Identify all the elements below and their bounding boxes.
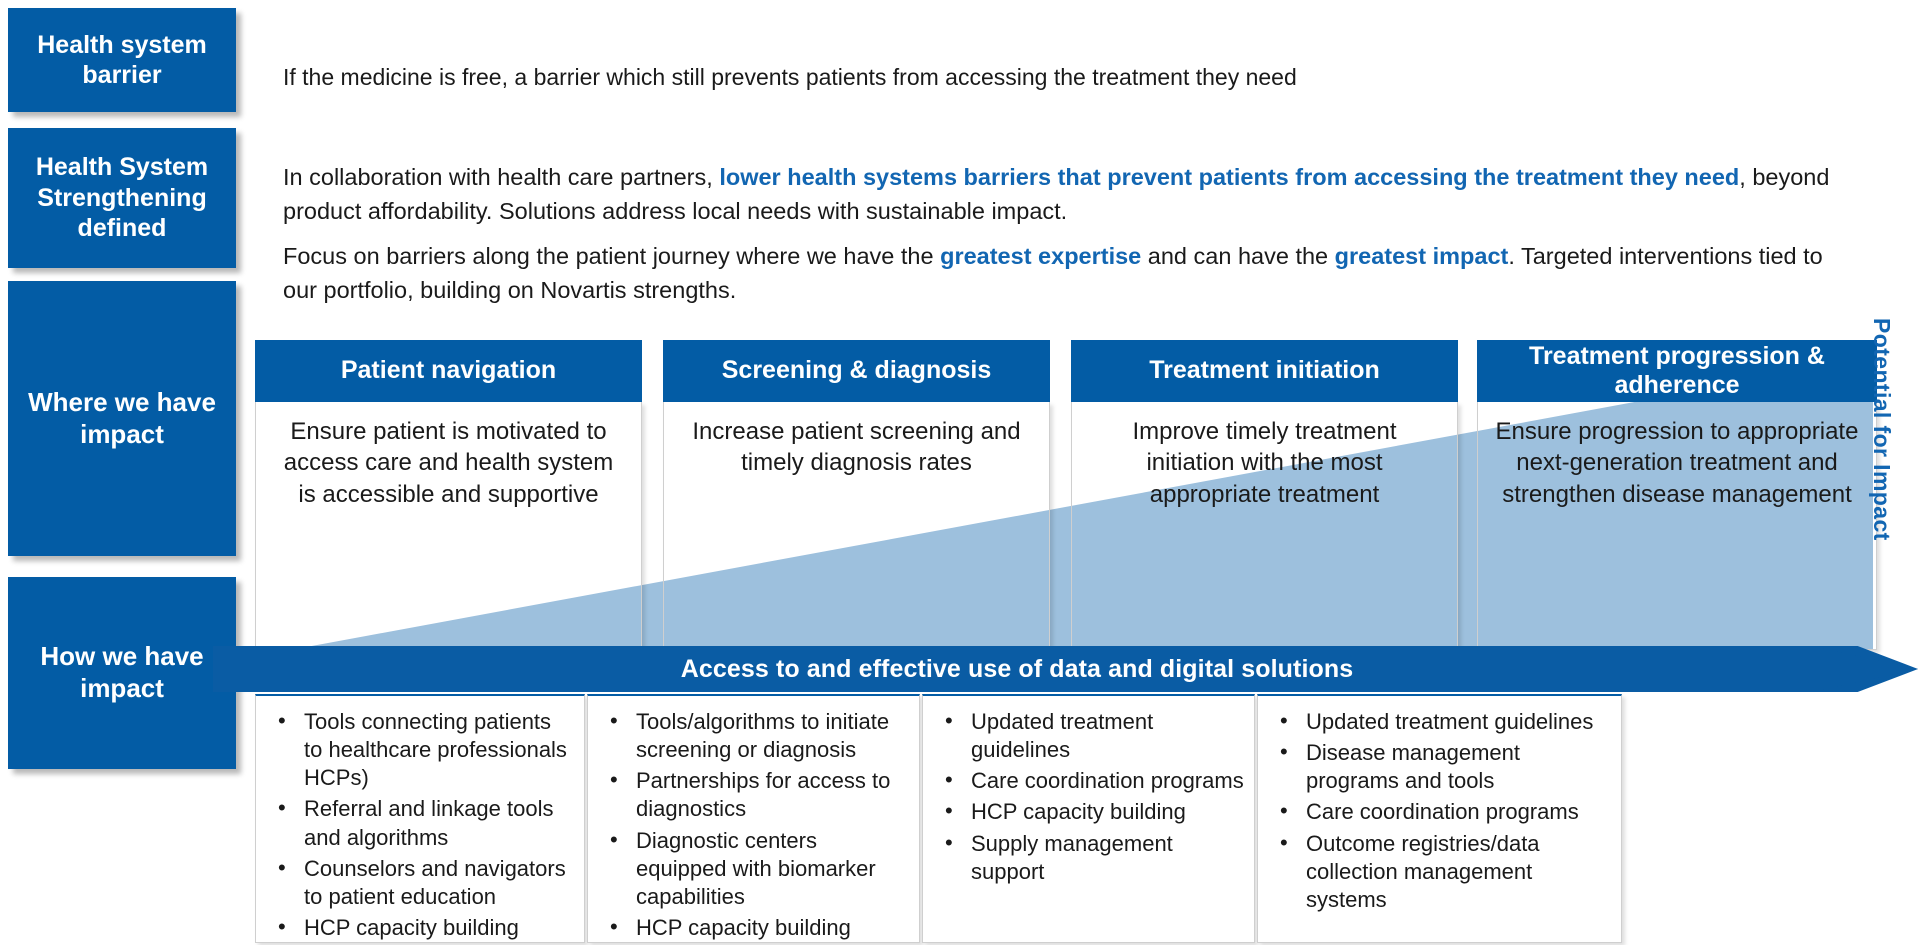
stage-header-treatment-progression-adherence[interactable]: Treatment progression & adherence (1477, 340, 1877, 402)
slide-canvas: Health system barrier Health System Stre… (0, 0, 1918, 945)
list-item: HCP capacity building (935, 798, 1244, 826)
list-item: Care coordination programs (1270, 798, 1611, 826)
list-item: Counselors and navigators to patient edu… (268, 855, 574, 911)
how-card-treatment-initiation: Updated treatment guidelines Care coordi… (922, 694, 1255, 943)
impact-stage-grid: Patient navigation Ensure patient is mot… (255, 340, 1873, 690)
list-item: Referral and linkage tools and algorithm… (268, 795, 574, 851)
rail-label-hss-defined: Health System Strengthening defined (8, 128, 236, 268)
list-item: Tools/algorithms to initiate screening o… (600, 708, 909, 764)
list-item: Tools connecting patients to healthcare … (268, 708, 574, 792)
barrier-statement-text: If the medicine is free, a barrier which… (283, 64, 1297, 90)
stage-header-patient-navigation[interactable]: Patient navigation (255, 340, 642, 402)
definition-p2-highlight-impact: greatest impact (1335, 243, 1509, 269)
stage-description-text: Ensure progression to appropriate next-g… (1496, 418, 1859, 508)
stage-header-treatment-initiation[interactable]: Treatment initiation (1071, 340, 1458, 402)
list-item: Updated treatment guidelines (1270, 708, 1611, 736)
list-item: Disease management programs and tools (1270, 739, 1611, 795)
rail-label-text: Health system barrier (14, 30, 230, 91)
definition-paragraph-1: In collaboration with health care partne… (283, 160, 1843, 228)
how-card-treatment-progression-adherence: Updated treatment guidelines Disease man… (1257, 694, 1622, 943)
list-item: HCP capacity building (600, 914, 909, 942)
rail-label-how-we-have-impact: How we have impact (8, 577, 236, 769)
definition-p1-lead: In collaboration with health care partne… (283, 164, 719, 190)
stage-description-text: Increase patient screening and timely di… (692, 418, 1020, 476)
potential-for-impact-axis-label: Potential for Impact (1868, 318, 1895, 541)
stage-description-screening-diagnosis: Increase patient screening and timely di… (663, 402, 1050, 650)
stage-header-text: Treatment initiation (1149, 356, 1380, 386)
arrow-banner-label: Access to and effective use of data and … (213, 646, 1821, 692)
definition-p2-mid: and can have the (1141, 243, 1334, 269)
definition-p1-highlight: lower health systems barriers that preve… (719, 164, 1739, 190)
rail-label-text: Health System Strengthening defined (14, 152, 230, 244)
impact-stage-column-1: Patient navigation Ensure patient is mot… (255, 340, 642, 650)
rail-label-text: Where we have impact (14, 387, 230, 450)
stage-description-treatment-progression-adherence: Ensure progression to appropriate next-g… (1477, 402, 1877, 650)
list-item: Updated treatment guidelines (935, 708, 1244, 764)
stage-header-text: Screening & diagnosis (722, 356, 992, 386)
arrow-banner-text: Access to and effective use of data and … (681, 655, 1354, 684)
stage-header-text: Patient navigation (341, 356, 556, 386)
list-item: Diagnostic centers equipped with biomark… (600, 827, 909, 911)
how-card-screening-diagnosis: Tools/algorithms to initiate screening o… (587, 694, 920, 943)
list-item: Partnerships for access to diagnostics (600, 767, 909, 823)
bullet-list: Tools connecting patients to healthcare … (268, 708, 574, 942)
stage-header-text: Treatment progression & adherence (1485, 342, 1869, 401)
stage-description-text: Improve timely treatment initiation with… (1132, 418, 1396, 508)
impact-stage-column-4: Treatment progression & adherence Ensure… (1477, 340, 1877, 650)
list-item: Outcome registries/data collection manag… (1270, 830, 1611, 914)
list-item: HCP capacity building (268, 914, 574, 942)
impact-stage-column-3: Treatment initiation Improve timely trea… (1071, 340, 1458, 650)
bullet-list: Updated treatment guidelines Care coordi… (935, 708, 1244, 886)
bullet-list: Updated treatment guidelines Disease man… (1270, 708, 1611, 914)
hss-definition-block: In collaboration with health care partne… (283, 160, 1843, 307)
definition-p2-lead: Focus on barriers along the patient jour… (283, 243, 940, 269)
bullet-list: Tools/algorithms to initiate screening o… (600, 708, 909, 942)
data-digital-arrow-banner: Access to and effective use of data and … (213, 646, 1918, 692)
rail-label-text: How we have impact (14, 641, 230, 704)
stage-description-patient-navigation: Ensure patient is motivated to access ca… (255, 402, 642, 650)
definition-p2-highlight-expertise: greatest expertise (940, 243, 1141, 269)
how-card-patient-navigation: Tools connecting patients to healthcare … (255, 694, 585, 943)
potential-axis-text: Potential for Impact (1869, 318, 1895, 541)
stage-description-text: Ensure patient is motivated to access ca… (284, 418, 614, 508)
rail-label-where-we-have-impact: Where we have impact (8, 281, 236, 556)
impact-stage-column-2: Screening & diagnosis Increase patient s… (663, 340, 1050, 650)
stage-description-treatment-initiation: Improve timely treatment initiation with… (1071, 402, 1458, 650)
definition-paragraph-2: Focus on barriers along the patient jour… (283, 239, 1843, 307)
list-item: Supply management support (935, 830, 1244, 886)
health-system-barrier-statement: If the medicine is free, a barrier which… (283, 62, 1883, 93)
rail-label-health-system-barrier: Health system barrier (8, 8, 236, 112)
list-item: Care coordination programs (935, 767, 1244, 795)
stage-header-screening-diagnosis[interactable]: Screening & diagnosis (663, 340, 1050, 402)
